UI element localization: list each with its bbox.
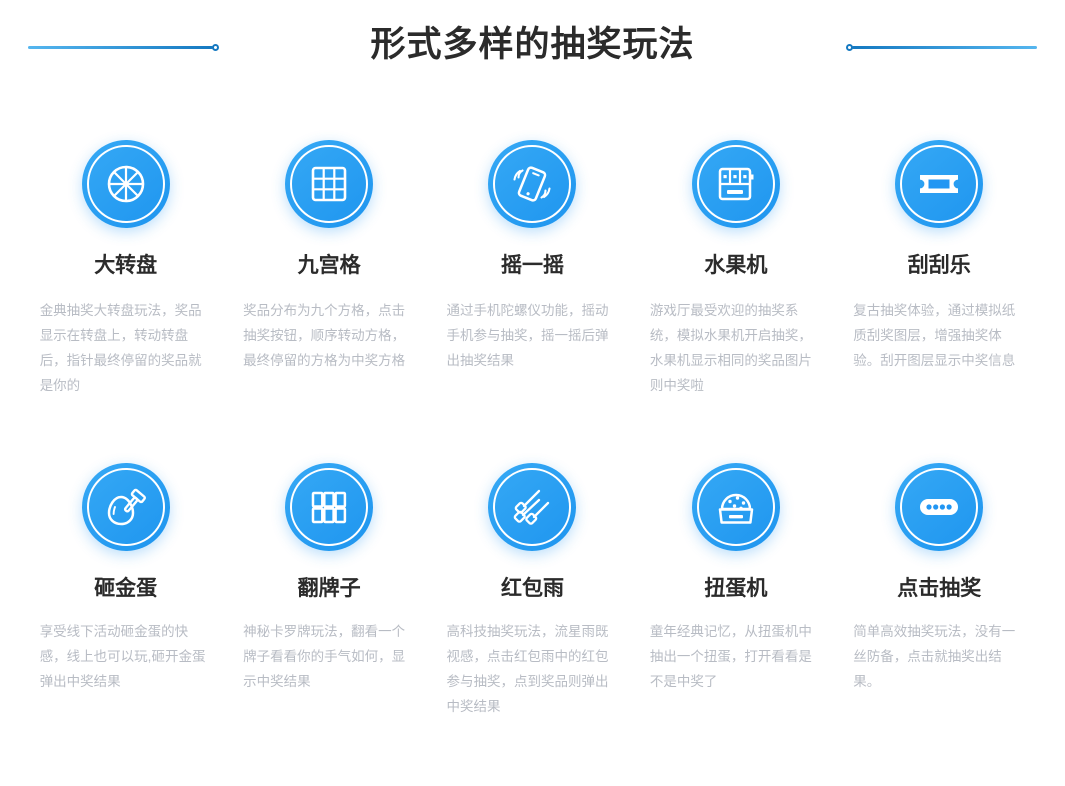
feature-title: 砸金蛋	[94, 577, 157, 600]
feature-card-click-draw[interactable]: 点击抽奖 简单高效抽奖玩法，没有一丝防备，点击就抽奖出结果。	[838, 463, 1041, 786]
icon-badge[interactable]	[692, 140, 780, 228]
feature-description: 通过手机陀螺仪功能，摇动手机参与抽奖，摇一摇后弹出抽奖结果	[446, 299, 618, 374]
gashapon-machine-icon	[712, 483, 760, 531]
icon-badge[interactable]	[285, 463, 373, 551]
red-envelope-rain-icon	[508, 483, 556, 531]
feature-card-scratch-card[interactable]: 刮刮乐 复古抽奖体验，通过模拟纸质刮奖图层，增强抽奖体验。刮开图层显示中奖信息	[838, 140, 1041, 463]
slot-machine-icon	[712, 160, 760, 208]
feature-card-slot-machine[interactable]: 水果机 游戏厅最受欢迎的抽奖系统，模拟水果机开启抽奖，水果机显示相同的奖品图片则…	[634, 140, 837, 463]
feature-description: 高科技抽奖玩法，流星雨既视感，点击红包雨中的红包参与抽奖，点到奖品则弹出中奖结果	[446, 620, 618, 720]
decoration-line-right	[852, 46, 1037, 49]
feature-title: 扭蛋机	[704, 577, 767, 600]
flip-cards-icon	[305, 483, 353, 531]
page-header: 形式多样的抽奖玩法	[0, 0, 1065, 88]
scratch-ticket-icon	[915, 160, 963, 208]
nine-grid-icon	[305, 160, 353, 208]
icon-badge[interactable]	[82, 463, 170, 551]
decoration-dot-left	[212, 44, 219, 51]
feature-title: 翻牌子	[298, 577, 361, 600]
feature-description: 游戏厅最受欢迎的抽奖系统，模拟水果机开启抽奖，水果机显示相同的奖品图片则中奖啦	[650, 299, 822, 399]
feature-title: 大转盘	[94, 254, 157, 277]
feature-title: 摇一摇	[501, 254, 564, 277]
feature-title: 九宫格	[298, 254, 361, 277]
feature-card-red-envelope-rain[interactable]: 红包雨 高科技抽奖玩法，流星雨既视感，点击红包雨中的红包参与抽奖，点到奖品则弹出…	[431, 463, 634, 786]
feature-card-shake[interactable]: 摇一摇 通过手机陀螺仪功能，摇动手机参与抽奖，摇一摇后弹出抽奖结果	[431, 140, 634, 463]
feature-description: 复古抽奖体验，通过模拟纸质刮奖图层，增强抽奖体验。刮开图层显示中奖信息	[853, 299, 1025, 374]
feature-card-flip-card[interactable]: 翻牌子 神秘卡罗牌玩法，翻看一个牌子看看你的手气如何，显示中奖结果	[227, 463, 430, 786]
feature-title: 点击抽奖	[897, 577, 981, 600]
feature-card-golden-egg[interactable]: 砸金蛋 享受线下活动砸金蛋的快感，线上也可以玩,砸开金蛋弹出中奖结果	[24, 463, 227, 786]
icon-badge[interactable]	[895, 140, 983, 228]
feature-title: 红包雨	[501, 577, 564, 600]
feature-card-gashapon[interactable]: 扭蛋机 童年经典记忆，从扭蛋机中抽出一个扭蛋，打开看看是不是中奖了	[634, 463, 837, 786]
feature-description: 享受线下活动砸金蛋的快感，线上也可以玩,砸开金蛋弹出中奖结果	[40, 620, 212, 695]
feature-description: 奖品分布为九个方格，点击抽奖按钮，顺序转动方格，最终停留的方格为中奖方格	[243, 299, 415, 374]
icon-badge[interactable]	[488, 140, 576, 228]
icon-badge[interactable]	[488, 463, 576, 551]
feature-description: 金典抽奖大转盘玩法，奖品显示在转盘上，转动转盘后，指针最终停留的奖品就是你的	[40, 299, 212, 399]
shake-phone-icon	[508, 160, 556, 208]
feature-title: 水果机	[704, 254, 767, 277]
feature-description: 神秘卡罗牌玩法，翻看一个牌子看看你的手气如何，显示中奖结果	[243, 620, 415, 695]
prize-wheel-icon	[102, 160, 150, 208]
title-decoration-left	[28, 41, 219, 53]
feature-card-nine-grid[interactable]: 九宫格 奖品分布为九个方格，点击抽奖按钮，顺序转动方格，最终停留的方格为中奖方格	[227, 140, 430, 463]
feature-description: 童年经典记忆，从扭蛋机中抽出一个扭蛋，打开看看是不是中奖了	[650, 620, 822, 695]
icon-badge[interactable]	[82, 140, 170, 228]
feature-title: 刮刮乐	[908, 254, 971, 277]
page-title: 形式多样的抽奖玩法	[370, 27, 694, 62]
title-decoration-right	[846, 41, 1037, 53]
feature-description: 简单高效抽奖玩法，没有一丝防备，点击就抽奖出结果。	[853, 620, 1025, 695]
icon-badge[interactable]	[285, 140, 373, 228]
click-draw-icon	[915, 483, 963, 531]
icon-badge[interactable]	[895, 463, 983, 551]
decoration-line-left	[28, 46, 213, 49]
egg-hammer-icon	[102, 483, 150, 531]
feature-grid: 大转盘 金典抽奖大转盘玩法，奖品显示在转盘上，转动转盘后，指针最终停留的奖品就是…	[0, 88, 1065, 786]
feature-card-prize-wheel[interactable]: 大转盘 金典抽奖大转盘玩法，奖品显示在转盘上，转动转盘后，指针最终停留的奖品就是…	[24, 140, 227, 463]
icon-badge[interactable]	[692, 463, 780, 551]
